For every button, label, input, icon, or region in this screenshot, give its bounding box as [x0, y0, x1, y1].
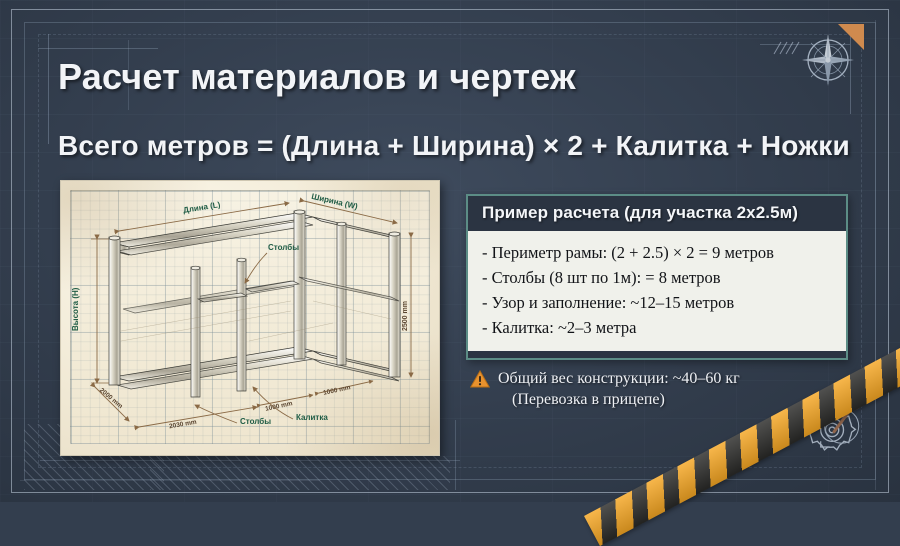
warning-text: Общий вес конструкции: ~40–60 кг (Перево… [498, 368, 740, 411]
frame-tick-horizontal [20, 480, 320, 481]
warning-line-1: Общий вес конструкции: ~40–60 кг [498, 370, 740, 387]
panel-body: - Периметр рамы: (2 + 2.5) × 2 = 9 метро… [468, 231, 846, 351]
list-item: - Калитка: ~2–3 метра [482, 315, 832, 340]
calculation-list: - Периметр рамы: (2 + 2.5) × 2 = 9 метро… [482, 240, 832, 340]
calculation-example-panel: Пример расчета (для участка 2x2.5м) - Пе… [466, 194, 848, 360]
list-item: - Узор и заполнение: ~12–15 метров [482, 290, 832, 315]
warning-triangle-icon [470, 370, 490, 388]
warning-line-2: (Перевозка в прицепе) [498, 389, 740, 410]
formula-text: Всего метров = (Длина + Ширина) × 2 + Ка… [58, 130, 850, 162]
compass-rose-icon [798, 30, 858, 90]
weight-warning: Общий вес конструкции: ~40–60 кг (Перево… [470, 368, 850, 411]
corner-hatch-bottom [150, 456, 450, 490]
frame-tick-vertical [875, 20, 876, 490]
panel-header: Пример расчета (для участка 2x2.5м) [468, 196, 846, 231]
blueprint-drawing: Длина (L) Ширина (W) Высота (H) Столбы С… [60, 180, 440, 456]
panel-footer-bar [468, 351, 846, 358]
list-item: - Периметр рамы: (2 + 2.5) × 2 = 9 метро… [482, 240, 832, 265]
frame-tick-vertical [48, 34, 49, 144]
page-title: Расчет материалов и чертеж [58, 56, 576, 98]
blueprint-structure-svg [61, 181, 439, 455]
frame-tick-horizontal [40, 460, 460, 461]
frame-tick-horizontal [38, 48, 158, 49]
list-item: - Столбы (8 шт по 1м): = 8 метров [482, 265, 832, 290]
frame-tick-vertical [455, 420, 456, 490]
